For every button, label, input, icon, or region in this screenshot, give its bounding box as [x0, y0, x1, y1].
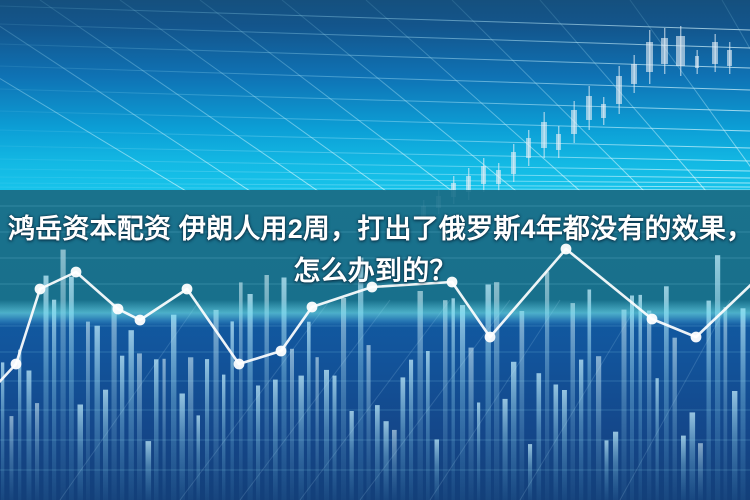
headline-text: 鸿岳资本配资 伊朗人用2周，打出了俄罗斯4年都没有的效果， 怎么办到的？: [0, 208, 750, 292]
data-point-marker: [11, 359, 22, 370]
data-point-marker: [276, 346, 287, 357]
data-point-marker: [113, 304, 124, 315]
headline-line-1: 鸿岳资本配资 伊朗人用2周，打出了俄罗斯4年都没有的效果，: [8, 214, 750, 244]
data-point-marker: [135, 315, 146, 326]
headline-line-2: 怎么办到的？: [8, 250, 742, 292]
data-point-marker: [647, 314, 658, 325]
data-point-marker: [307, 302, 318, 313]
stock-banner-image: 鸿岳资本配资 伊朗人用2周，打出了俄罗斯4年都没有的效果， 怎么办到的？: [0, 0, 750, 500]
data-point-marker: [234, 359, 245, 370]
data-point-marker: [691, 332, 702, 343]
data-point-marker: [485, 332, 496, 343]
